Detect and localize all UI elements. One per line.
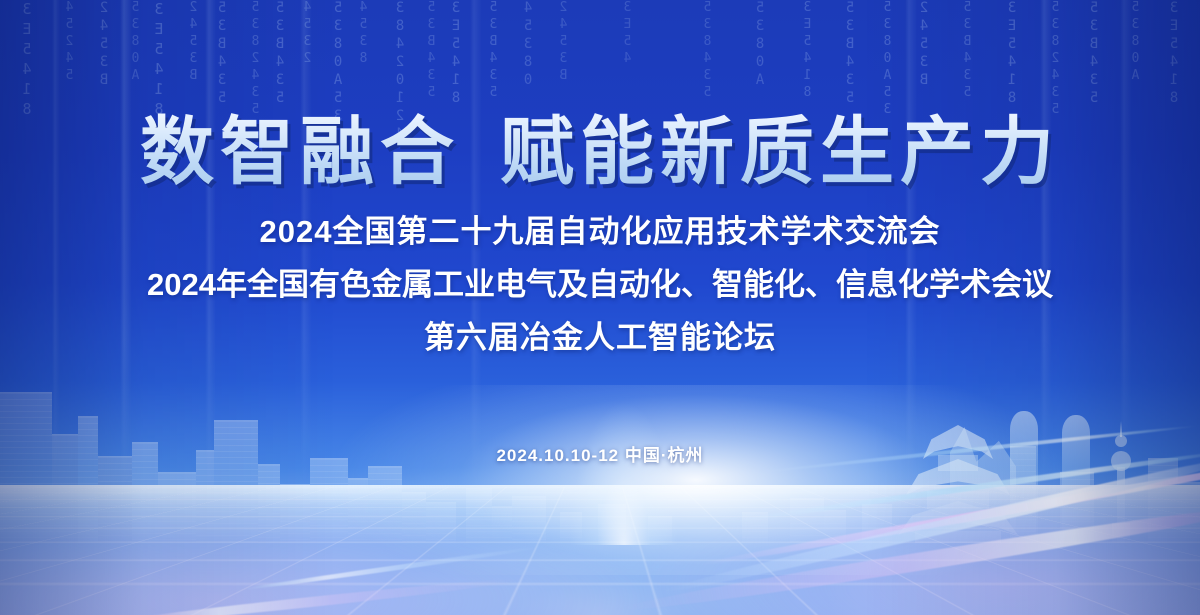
date-location: 2024.10.10-12 中国·杭州	[0, 357, 1200, 466]
subtitle-line-3: 第六届冶金人工智能论坛	[0, 304, 1200, 357]
main-title-part1: 数智融合	[140, 110, 460, 193]
subtitle-line-1: 2024全国第二十九届自动化应用技术学术交流会	[0, 192, 1200, 251]
banner-content: 数智融合赋能新质生产力 2024全国第二十九届自动化应用技术学术交流会 2024…	[0, 0, 1200, 466]
main-title-part2: 赋能新质生产力	[500, 110, 1060, 193]
subtitle-line-2: 2024年全国有色金属工业电气及自动化、智能化、信息化学术会议	[0, 251, 1200, 304]
conference-banner: 3E5418452452453B5380A3E54182453B53B43553…	[0, 0, 1200, 615]
main-title: 数智融合赋能新质生产力	[0, 0, 1200, 192]
